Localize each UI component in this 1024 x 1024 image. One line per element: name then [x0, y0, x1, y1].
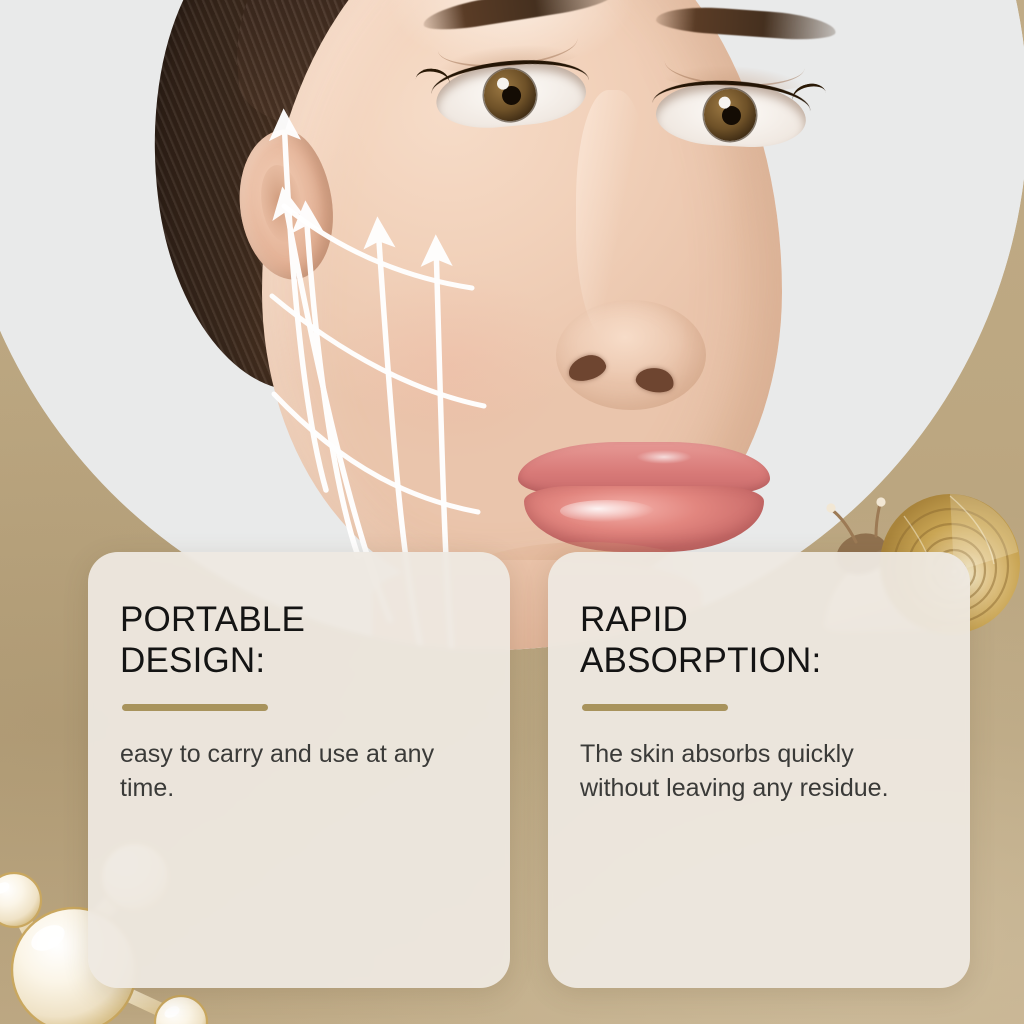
card-body-text: The skin absorbs quickly without leaving… — [580, 737, 936, 805]
card-title: RAPID ABSORPTION: — [580, 600, 936, 682]
eye-right — [654, 80, 807, 150]
feature-card-rapid-absorption[interactable]: RAPID ABSORPTION: The skin absorbs quick… — [548, 552, 970, 988]
poster-canvas: PORTABLE DESIGN: easy to carry and use a… — [0, 0, 1024, 1024]
feature-cards: PORTABLE DESIGN: easy to carry and use a… — [88, 552, 970, 988]
card-body-text: easy to carry and use at any time. — [120, 737, 476, 805]
lips — [518, 442, 770, 554]
cheek-blush — [336, 270, 566, 460]
card-title: PORTABLE DESIGN: — [120, 600, 476, 682]
eye-left — [434, 58, 589, 133]
card-divider-rule — [582, 704, 728, 711]
nose-tip — [556, 300, 706, 410]
feature-card-portable-design[interactable]: PORTABLE DESIGN: easy to carry and use a… — [88, 552, 510, 988]
card-divider-rule — [122, 704, 268, 711]
